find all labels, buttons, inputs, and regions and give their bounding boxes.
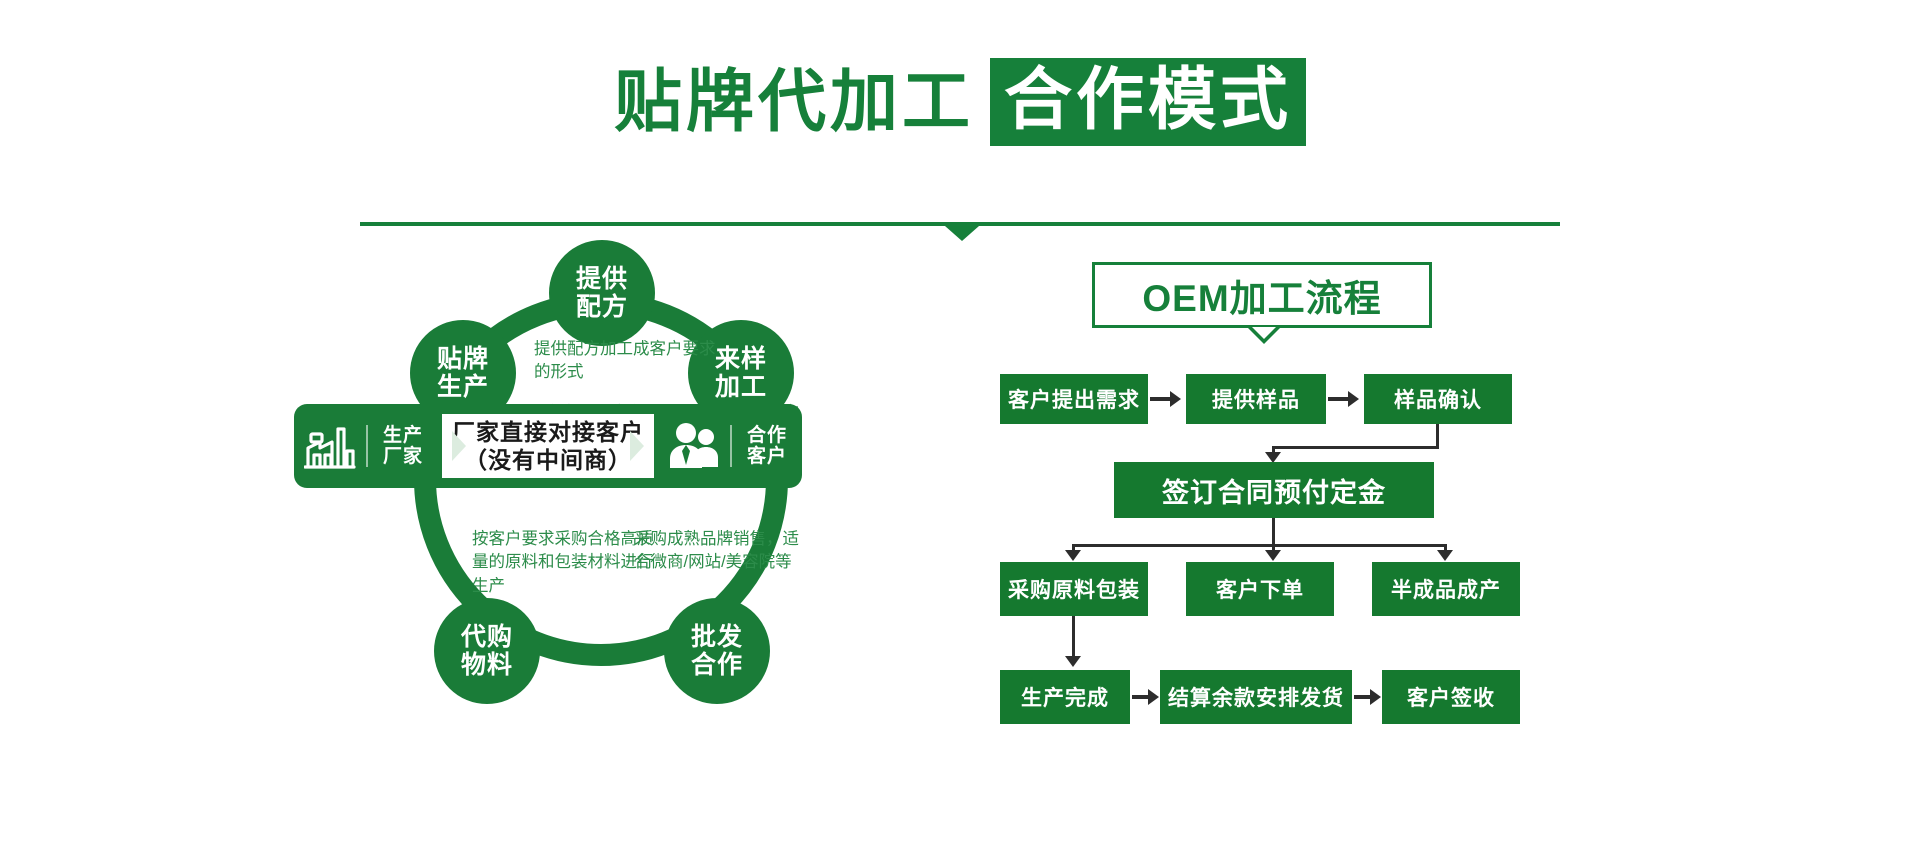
connector-line <box>1072 616 1075 658</box>
chevron-right-icon-right <box>630 431 644 461</box>
bar-separator-left <box>366 425 368 467</box>
page-title-main: 贴牌代加工 <box>614 62 974 142</box>
flow-step-semi-finished-production[interactable]: 半成品成产 <box>1372 562 1520 616</box>
customer-label-line1: 合作 <box>739 425 795 446</box>
arrow-down-icon <box>1265 550 1281 561</box>
arrow-down-icon <box>1065 550 1081 561</box>
direct-connection-line1: 厂家直接对接客户 <box>452 418 644 446</box>
producer-label-line2: 厂家 <box>375 446 431 467</box>
header-divider-caret-icon <box>945 226 979 241</box>
bar-separator-right <box>730 425 732 467</box>
flow-step-customer-request[interactable]: 客户提出需求 <box>1000 374 1148 424</box>
connector-line <box>1328 397 1350 401</box>
connector-line <box>1072 544 1446 547</box>
flow-step-customer-order[interactable]: 客户下单 <box>1186 562 1334 616</box>
flow-step-sign-contract-deposit[interactable]: 签订合同预付定金 <box>1114 462 1434 518</box>
direct-connection-line2: （没有中间商） <box>452 446 644 474</box>
cycle-node-pifa-hezuo[interactable]: 批发 合作 <box>664 598 770 704</box>
connector-line <box>1150 397 1172 401</box>
flow-step-production-complete[interactable]: 生产完成 <box>1000 670 1130 724</box>
oem-process-flowchart: OEM加工流程 客户提出需求 提供样品 样品确认 签订合同预付定金 采购原料包装… <box>1000 262 1560 682</box>
flowchart-title: OEM加工流程 <box>1142 268 1381 322</box>
arrow-right-icon <box>1370 689 1381 705</box>
connector-line <box>1272 518 1275 546</box>
flow-step-settle-balance-ship[interactable]: 结算余款安排发货 <box>1160 670 1352 724</box>
cycle-desc-bottom-right: 采购成熟品牌销售，适合微商/网站/美容院等 <box>634 528 804 575</box>
direct-connection-bar: 生产 厂家 厂家直接对接客户 （没有中间商） <box>294 404 802 488</box>
page-title-highlight: 合作模式 <box>990 58 1306 146</box>
cycle-node-tigong-peifang[interactable]: 提供 配方 <box>549 240 655 346</box>
customer-label: 合作 客户 <box>739 425 795 468</box>
page-title: 贴牌代加工合作模式 <box>0 58 1920 146</box>
cycle-node-label-line2: 配方 <box>576 293 628 321</box>
flowchart-title-caret-inner-icon <box>1252 327 1276 339</box>
arrow-down-icon <box>1437 550 1453 561</box>
cycle-node-label-line2: 生产 <box>437 373 489 401</box>
cycle-node-label-line2: 合作 <box>691 651 743 679</box>
flow-step-sample-confirm[interactable]: 样品确认 <box>1364 374 1512 424</box>
arrow-down-icon <box>1065 656 1081 667</box>
cycle-node-label-line1: 贴牌 <box>437 345 489 373</box>
flowchart-title-box: OEM加工流程 <box>1092 262 1432 328</box>
cycle-node-label-line2: 物料 <box>461 651 513 679</box>
factory-icon <box>294 404 366 488</box>
flow-step-purchase-materials[interactable]: 采购原料包装 <box>1000 562 1148 616</box>
cycle-node-label-line1: 代购 <box>461 623 513 651</box>
connector-line <box>1436 424 1439 448</box>
arrow-right-icon <box>1348 391 1359 407</box>
chevron-right-icon-left <box>452 431 466 461</box>
arrow-right-icon <box>1148 689 1159 705</box>
flow-step-customer-receipt[interactable]: 客户签收 <box>1382 670 1520 724</box>
customer-label-line2: 客户 <box>739 446 795 467</box>
cooperation-cycle-diagram: 提供 配方 贴牌 生产 来样 加工 代购 物料 批发 合作 提供配方加工成客户要… <box>352 270 852 770</box>
arrow-right-icon <box>1170 391 1181 407</box>
infographic-root: 贴牌代加工合作模式 提供 配方 贴牌 生产 来样 加工 代购 物料 批发 合作 … <box>0 0 1920 857</box>
connector-line <box>1272 446 1439 449</box>
direct-connection-message: 厂家直接对接客户 （没有中间商） <box>442 414 654 478</box>
cycle-node-daigou-wuliao[interactable]: 代购 物料 <box>434 598 540 704</box>
customers-icon <box>658 404 730 488</box>
flow-step-provide-sample[interactable]: 提供样品 <box>1186 374 1326 424</box>
cycle-node-label-line1: 批发 <box>691 623 743 651</box>
cycle-node-label-line1: 提供 <box>576 265 628 293</box>
cycle-desc-top-left: 提供配方加工成客户要求的形式 <box>534 338 724 385</box>
producer-label-line1: 生产 <box>375 425 431 446</box>
producer-label: 生产 厂家 <box>375 425 431 468</box>
